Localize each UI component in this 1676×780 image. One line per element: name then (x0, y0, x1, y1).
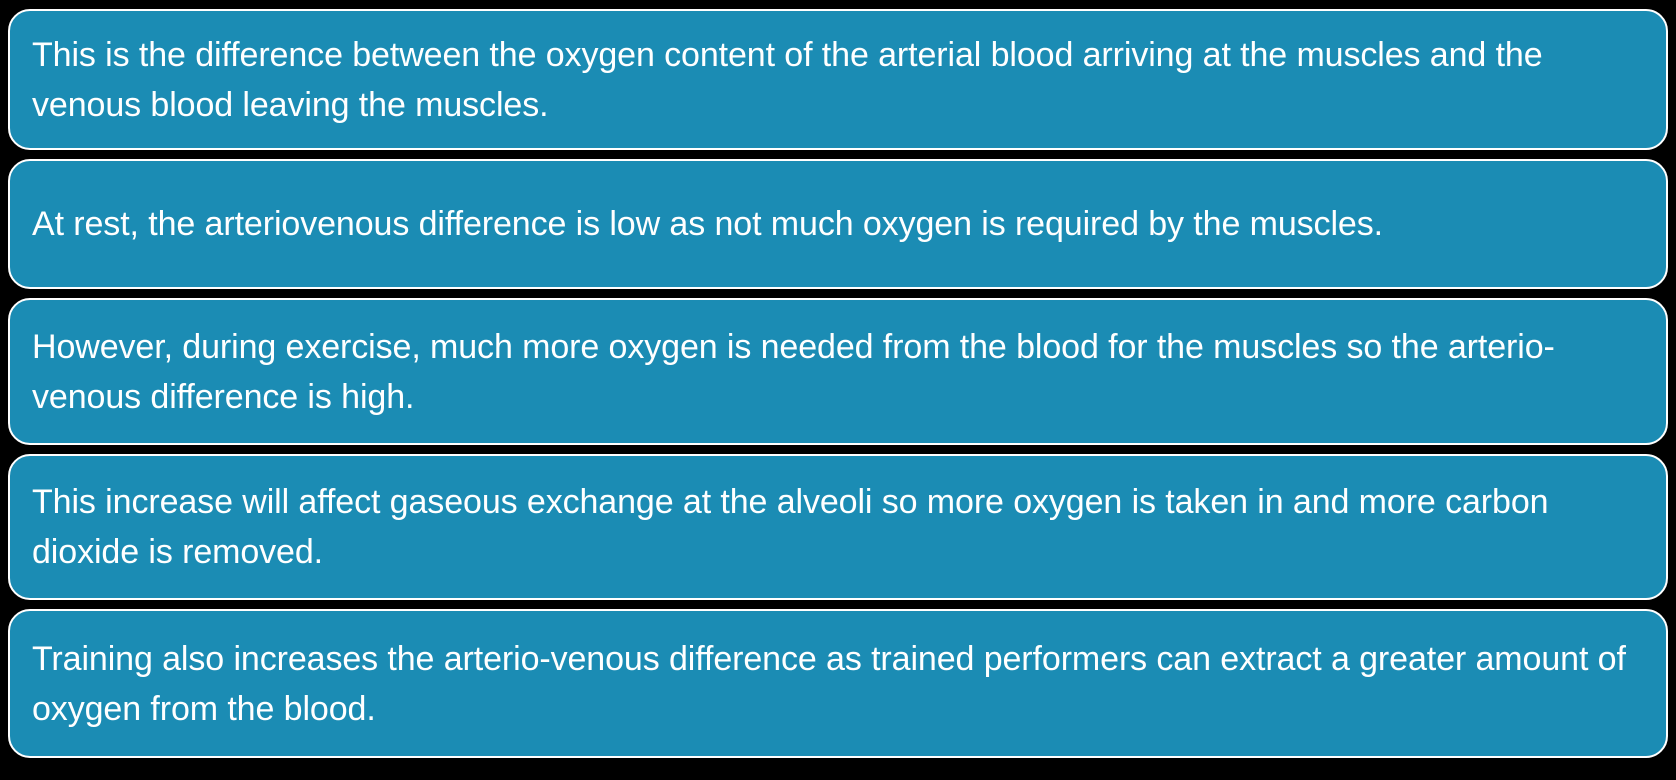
callout-text-4: This increase will affect gaseous exchan… (32, 477, 1644, 577)
callout-text-3: However, during exercise, much more oxyg… (32, 322, 1644, 422)
callout-text-1: This is the difference between the oxyge… (32, 30, 1644, 130)
callout-text-2: At rest, the arteriovenous difference is… (32, 201, 1644, 247)
callout-box-1: This is the difference between the oxyge… (8, 9, 1668, 150)
slide-canvas: This is the difference between the oxyge… (0, 0, 1676, 780)
callout-box-5: Training also increases the arterio-veno… (8, 609, 1668, 758)
callout-box-2: At rest, the arteriovenous difference is… (8, 159, 1668, 289)
callout-text-5: Training also increases the arterio-veno… (32, 634, 1644, 734)
callout-box-4: This increase will affect gaseous exchan… (8, 454, 1668, 600)
callout-box-3: However, during exercise, much more oxyg… (8, 298, 1668, 445)
